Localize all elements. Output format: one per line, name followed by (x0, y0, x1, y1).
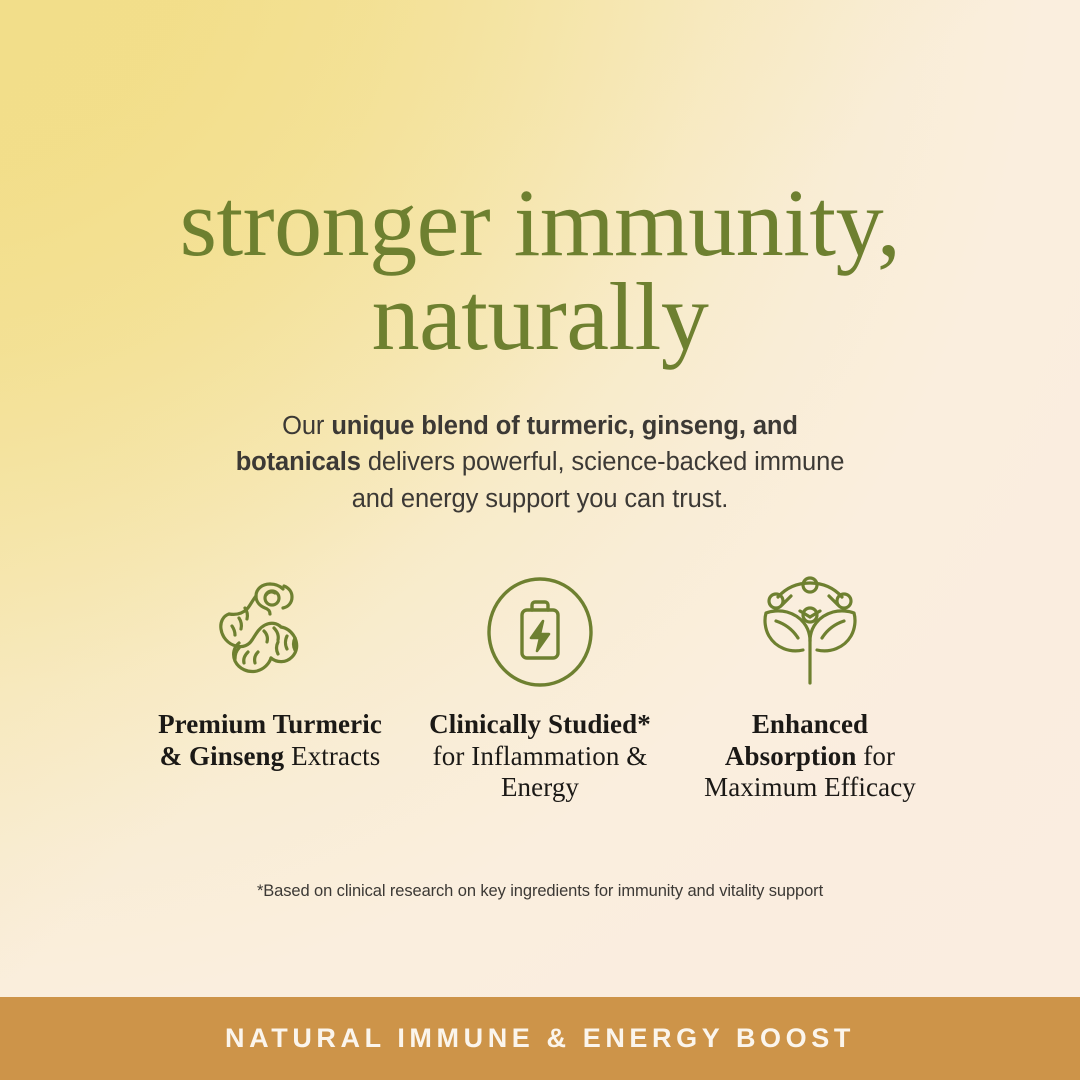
intro-paragraph: Our unique blend of turmeric, ginseng, a… (220, 364, 860, 517)
intro-text-part-1: Our (282, 412, 331, 440)
promo-poster: stronger immunity, naturally Our unique … (0, 0, 1080, 1080)
poster-content: stronger immunity, naturally Our unique … (0, 0, 1080, 1080)
feature-caption-bold-absorption: Enhanced Absorption (725, 709, 868, 771)
feature-item-turmeric: Premium Turmeric & Ginseng Extracts (145, 573, 395, 773)
bottom-banner: NATURAL IMMUNE & ENERGY BOOST (0, 997, 1080, 1080)
feature-list: Premium Turmeric & Ginseng Extracts Clin… (145, 517, 935, 805)
page-title: stronger immunity, naturally (90, 0, 990, 364)
feature-item-absorption: Enhanced Absorption for Maximum Efficacy (685, 573, 935, 805)
feature-caption-rest-clinically-studied: for Inflammation & Energy (433, 741, 648, 803)
intro-text-part-2: delivers powerful, science-backed immune… (352, 448, 845, 512)
headline-line-2: naturally (90, 270, 990, 364)
bottom-banner-label: NATURAL IMMUNE & ENERGY BOOST (225, 1023, 855, 1054)
feature-caption-clinically-studied: Clinically Studied* for Inflammation & E… (415, 691, 665, 805)
feature-caption-turmeric: Premium Turmeric & Ginseng Extracts (145, 691, 395, 773)
feature-caption-absorption: Enhanced Absorption for Maximum Efficacy (685, 691, 935, 805)
headline-line-1: stronger immunity, (90, 176, 990, 270)
feature-caption-bold-clinically-studied: Clinically Studied* (429, 709, 651, 739)
footnote-text: *Based on clinical research on key ingre… (257, 804, 823, 901)
feature-item-clinically-studied: Clinically Studied* for Inflammation & E… (415, 573, 665, 805)
feature-caption-rest-turmeric: Extracts (284, 741, 380, 771)
turmeric-root-icon (210, 573, 330, 691)
battery-bolt-circle-icon (481, 573, 599, 691)
plant-molecule-icon (748, 573, 872, 691)
